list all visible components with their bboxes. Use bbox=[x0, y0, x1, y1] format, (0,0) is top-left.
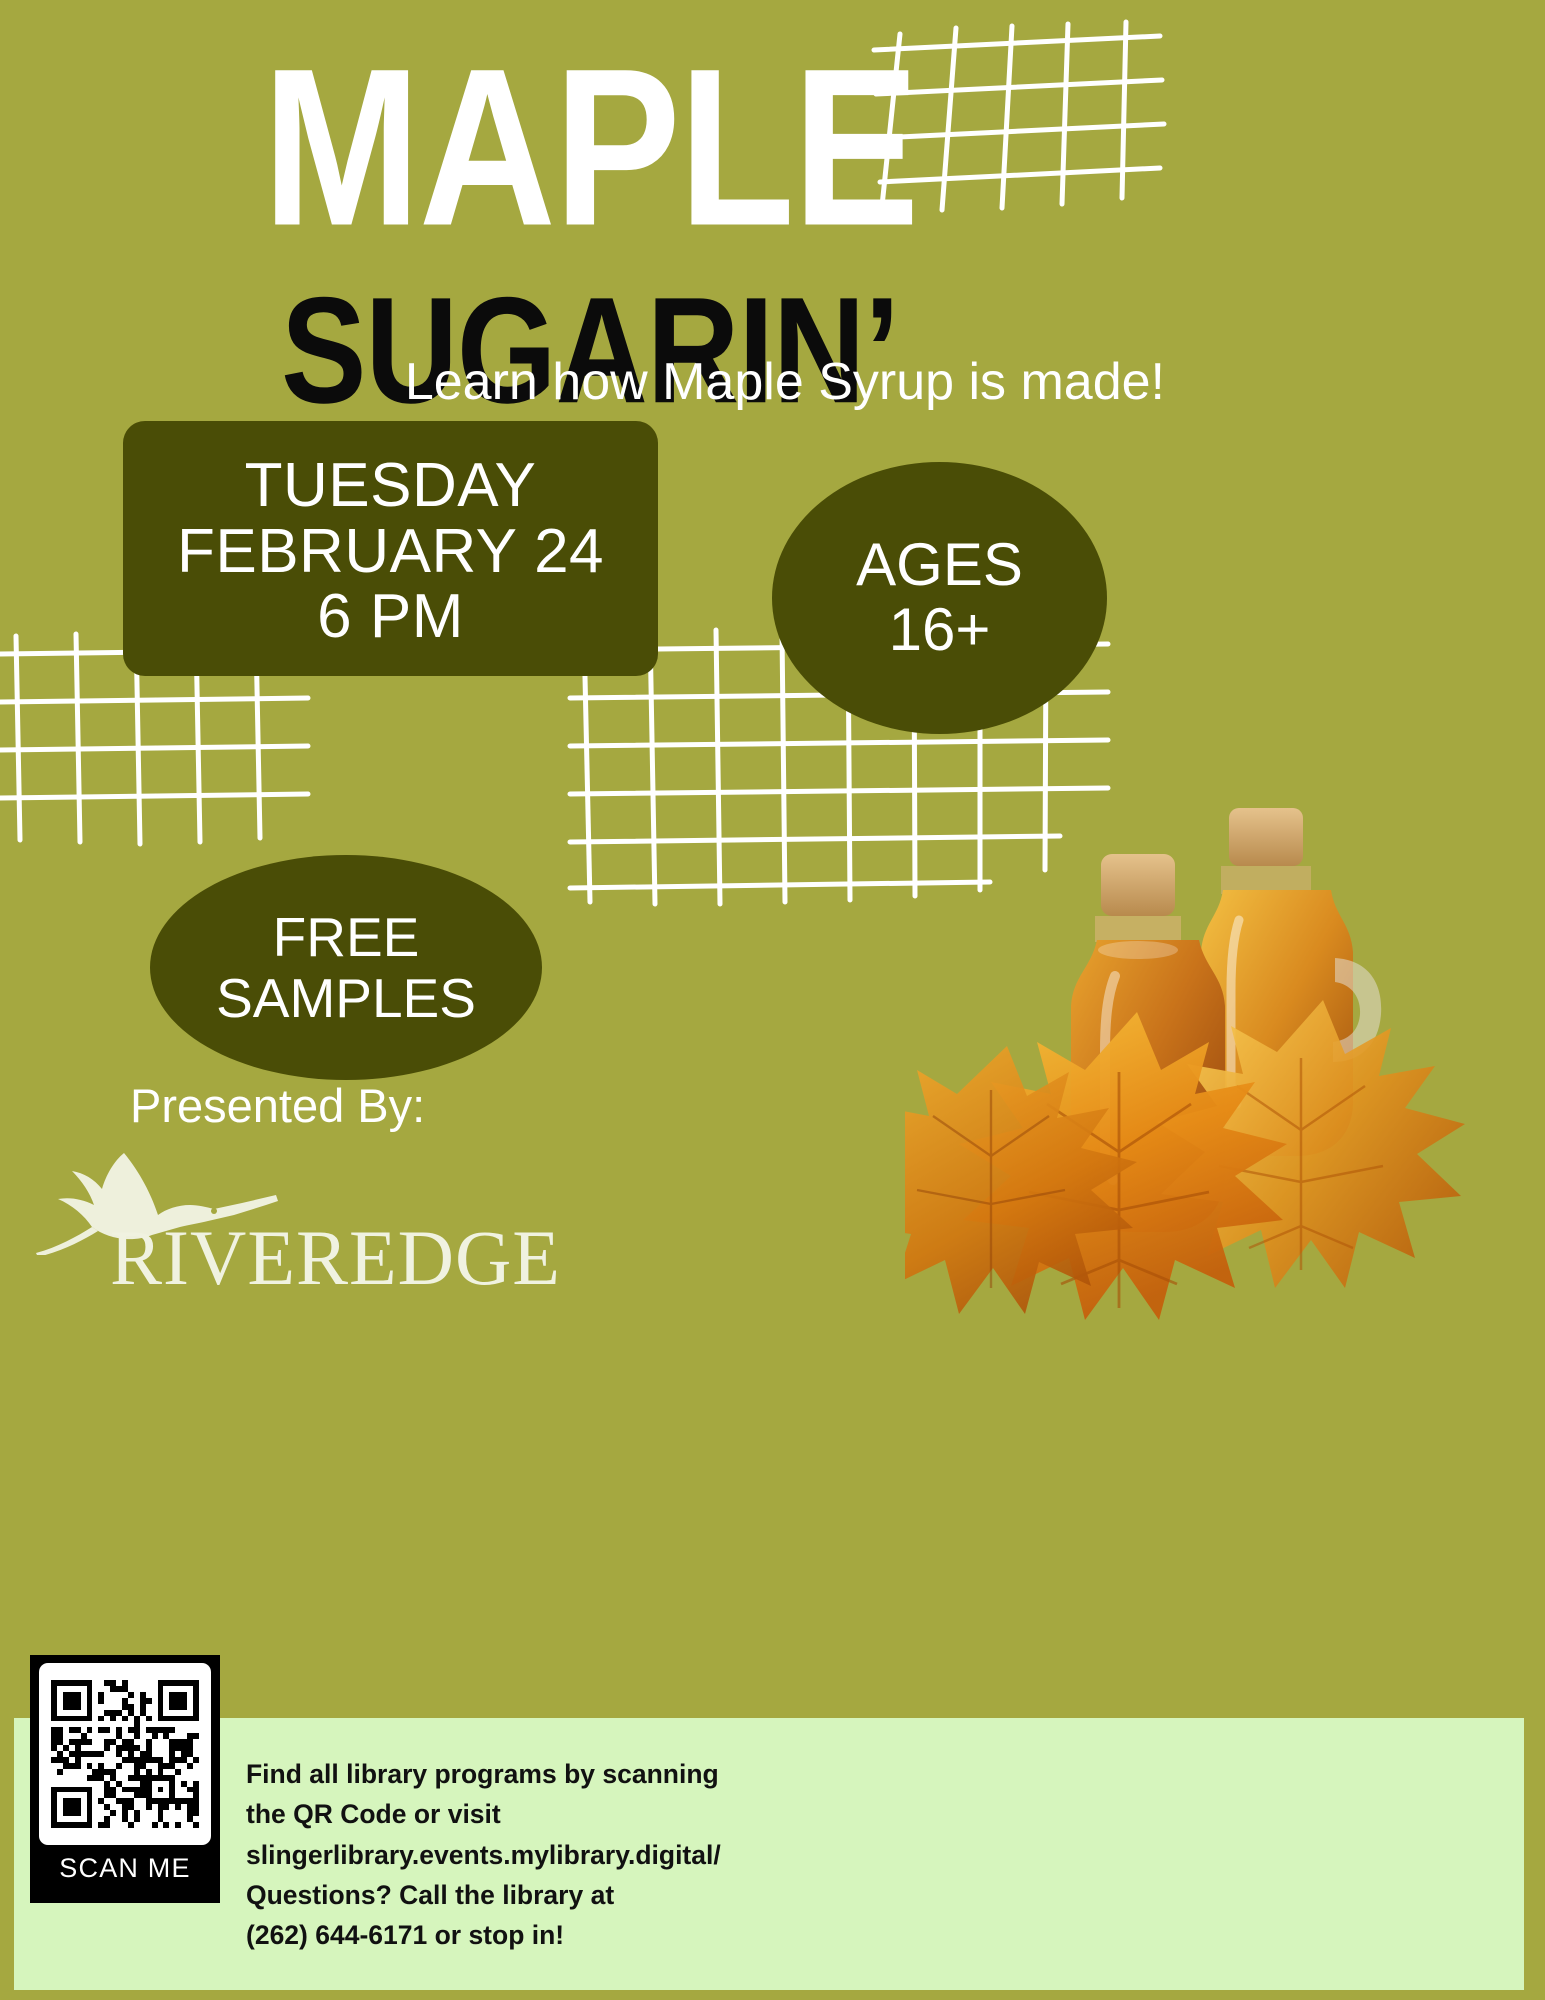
footer-line-5: (262) 644-6171 or stop in! bbox=[246, 1915, 786, 1955]
poster-canvas: MAPLE SUGARIN’ Learn how Maple Syrup is … bbox=[0, 0, 1545, 2000]
footer-line-4: Questions? Call the library at bbox=[246, 1875, 786, 1915]
footer-instructions: Find all library programs by scanning th… bbox=[246, 1754, 786, 1955]
maple-syrup-photo bbox=[905, 800, 1545, 1340]
event-date-box: TUESDAY FEBRUARY 24 6 PM bbox=[123, 421, 658, 676]
free-label: FREE bbox=[273, 907, 420, 968]
event-date: FEBRUARY 24 bbox=[177, 519, 604, 585]
ages-label: AGES bbox=[856, 533, 1023, 598]
samples-label: SAMPLES bbox=[216, 968, 476, 1029]
event-time: 6 PM bbox=[317, 584, 464, 650]
page-title: MAPLE bbox=[0, 38, 1180, 258]
footer-info-bar: Find all library programs by scanning th… bbox=[14, 1718, 1524, 1990]
footer-line-3: slingerlibrary.events.mylibrary.digital/ bbox=[246, 1835, 786, 1875]
ages-badge: AGES 16+ bbox=[772, 462, 1107, 734]
ages-value: 16+ bbox=[889, 598, 991, 663]
headline-block: MAPLE SUGARIN’ bbox=[0, 38, 1180, 404]
riveredge-logo: RIVEREDGE bbox=[28, 1135, 518, 1305]
riveredge-wordmark: RIVEREDGE bbox=[110, 1213, 561, 1303]
presented-by-label: Presented By: bbox=[130, 1078, 425, 1133]
footer-line-2: the QR Code or visit bbox=[246, 1794, 786, 1834]
qr-modules bbox=[51, 1680, 199, 1828]
qr-code-image[interactable] bbox=[39, 1663, 211, 1845]
qr-code-block[interactable]: SCAN ME bbox=[30, 1655, 220, 1903]
event-day: TUESDAY bbox=[245, 453, 537, 519]
tagline: Learn how Maple Syrup is made! bbox=[0, 352, 1165, 412]
scan-me-label: SCAN ME bbox=[59, 1853, 190, 1884]
footer-line-1: Find all library programs by scanning bbox=[246, 1754, 786, 1794]
free-samples-badge: FREE SAMPLES bbox=[150, 855, 542, 1080]
